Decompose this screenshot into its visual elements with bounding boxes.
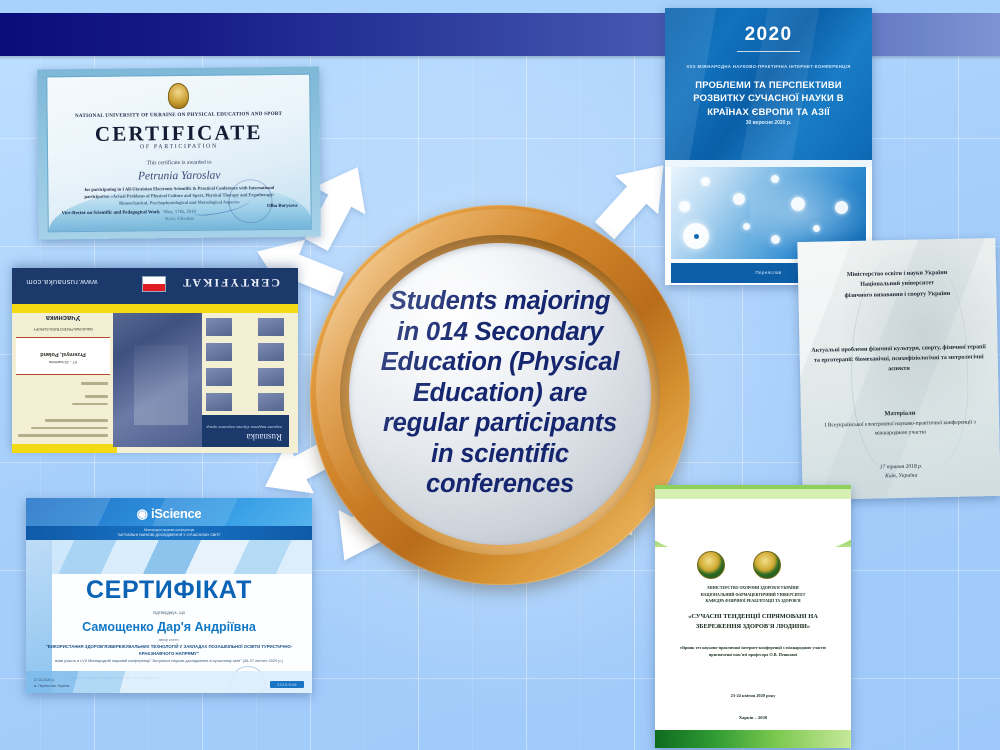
pharm-subtitle: збірник тез науково-практичної інтернет-… bbox=[671, 644, 835, 659]
conference-2020-rule bbox=[737, 51, 800, 52]
iscience-certificate-photo[interactable]: ◉ iScience Міжнародна наукова конференці… bbox=[26, 498, 312, 693]
conference-2020-title: ПРОБЛЕМИ ТА ПЕРСПЕКТИВИ РОЗВИТКУ СУЧАСНО… bbox=[673, 78, 864, 118]
rusnauka-date-range: 07 - 15 kwietnia bbox=[16, 360, 110, 374]
central-statement-circle: Students majoring in 014 Secondary Educa… bbox=[310, 205, 690, 585]
rusnauka-form-fields bbox=[18, 377, 108, 437]
iscience-number-badge: 2020/045 bbox=[270, 681, 304, 688]
iscience-conference-small: Міжнародна наукова конференція bbox=[26, 526, 312, 533]
rusnauka-form-line bbox=[81, 382, 108, 385]
rusnauka-url: www.rusnauka.com bbox=[26, 278, 97, 287]
ministry-title: Актуальні проблеми фізичної культури, сп… bbox=[809, 342, 988, 376]
university-seal-icon bbox=[753, 551, 781, 579]
ministry-seal-icon bbox=[697, 551, 725, 579]
poland-flag-icon bbox=[142, 276, 166, 292]
certificate-signer-title: Vice-Rector on Scientific and Pedagogica… bbox=[62, 209, 172, 217]
certificate-awarded-label: This certificate is awarded to bbox=[48, 159, 310, 168]
network-node-icon bbox=[813, 225, 820, 232]
pharm-city: Харків – 2020 bbox=[655, 715, 851, 720]
network-node-icon bbox=[771, 235, 780, 244]
atom-icon bbox=[683, 223, 709, 249]
rusnauka-form-line bbox=[72, 403, 108, 406]
conference-2020-year: 2020 bbox=[665, 24, 872, 46]
conference-2020-superline: XXX МІЖНАРОДНА НАУКОВО-ПРАКТИЧНА ІНТЕРНЕ… bbox=[675, 64, 862, 69]
iscience-recipient: Самощенко Дар'я Андріївна bbox=[26, 620, 312, 634]
iscience-confirms-label: підтверджує, що bbox=[26, 610, 312, 615]
rusnauka-footer-bar: CERTYFIKAT www.rusnauka.com bbox=[12, 268, 298, 304]
university-emblem-icon bbox=[168, 83, 189, 109]
network-node-icon bbox=[701, 177, 710, 186]
rusnauka-logo: Rusnauka bbox=[247, 432, 283, 442]
certificate-inner: NATIONAL UNIVERSITY OF UKRAINE ON PHYSIC… bbox=[46, 74, 312, 233]
conference-2020-divider bbox=[665, 160, 872, 167]
circle-face: Students majoring in 014 Secondary Educa… bbox=[349, 243, 651, 545]
rusnauka-form-line bbox=[31, 427, 108, 430]
certificate-signer-name: Olha Borysova bbox=[267, 204, 298, 209]
pharm-title: «СУЧАСНІ ТЕНДЕНЦІЇ СПРЯМОВАНІ НА ЗБЕРЕЖЕ… bbox=[667, 612, 839, 633]
rusnauka-city: Przemysl, Poland bbox=[16, 351, 110, 360]
ministry-materials: Матеріали I Всеукраїнської електронної н… bbox=[813, 406, 988, 440]
rusnauka-series-small: NAUKOWA PRZESTRZEN EUROPY bbox=[16, 326, 110, 331]
iscience-participation: взяв участь в LVІI Міжнародній науковій … bbox=[46, 658, 292, 664]
pharm-swoosh bbox=[655, 499, 851, 547]
iscience-article-title: "ВИКОРИСТАННЯ ЗДОРОВ'ЯЗБЕРЕЖУВАЛЬНИХ ТЕХ… bbox=[42, 644, 296, 657]
ministry-header: Міністерство освіти і науки України Наці… bbox=[808, 267, 987, 302]
rusnauka-form-line bbox=[85, 395, 108, 398]
iscience-ribbon: Міжнародна наукова конференція "АКТУАЛЬН… bbox=[26, 526, 312, 540]
network-node-icon bbox=[791, 197, 805, 211]
rusnauka-logo-sub: наукове видання збірник наукових праць bbox=[206, 424, 282, 430]
rusnauka-thumbnail bbox=[258, 318, 284, 336]
rusnauka-thumbnail bbox=[206, 318, 232, 336]
rusnauka-form-line bbox=[45, 419, 108, 422]
iscience-decorative-band bbox=[26, 540, 312, 574]
rusnauka-booklet-photo[interactable]: Rusnauka наукове видання збірник наукови… bbox=[12, 268, 298, 453]
pharm-proceedings-photo[interactable]: МІНІСТЕРСТВО ОХОРОНИ ЗДОРОВ'Я УКРАЇНИ НА… bbox=[655, 485, 851, 748]
rusnauka-yellow-top-bar bbox=[12, 444, 117, 453]
ministry-date-place: 17 травня 2018 р. Київ, Україна bbox=[812, 461, 990, 484]
iscience-brand: ◉ iScience bbox=[26, 506, 312, 522]
pharm-date: 23-24 квітня 2020 року bbox=[655, 693, 851, 698]
network-node-icon bbox=[771, 175, 779, 183]
iscience-globe-icon: ◉ bbox=[137, 506, 148, 521]
pharm-green-header bbox=[655, 485, 851, 547]
rusnauka-thumbnail bbox=[206, 368, 232, 386]
conference-2020-date: 30 вересня 2020 р. bbox=[665, 120, 872, 126]
iscience-title: СЕРТИФІКАТ bbox=[26, 576, 312, 605]
rusnauka-certificate-word: CERTYFIKAT bbox=[181, 275, 280, 290]
rusnauka-cover-photo bbox=[113, 313, 202, 447]
certificate-nuues-photo[interactable]: NATIONAL UNIVERSITY OF UKRAINE ON PHYSIC… bbox=[37, 67, 321, 240]
iscience-footer: 27.02.2020 р. м. Переяслав, Україна bbox=[34, 678, 69, 689]
iscience-author-label: автор статті: bbox=[26, 638, 312, 642]
network-node-icon bbox=[835, 201, 848, 214]
rusnauka-yellow-bar bbox=[12, 304, 298, 313]
network-node-icon bbox=[733, 193, 745, 205]
rusnauka-thumbnail bbox=[258, 343, 284, 361]
rusnauka-thumbnail bbox=[258, 368, 284, 386]
certificate-organization: NATIONAL UNIVERSITY OF UKRAINE ON PHYSIC… bbox=[56, 111, 302, 120]
pharm-organization: МІНІСТЕРСТВО ОХОРОНИ ЗДОРОВ'Я УКРАЇНИ НА… bbox=[669, 585, 837, 605]
rusnauka-thumbnail bbox=[206, 343, 232, 361]
pharm-green-footer bbox=[655, 730, 851, 748]
rusnauka-form-line bbox=[18, 434, 108, 437]
network-node-icon bbox=[679, 201, 690, 212]
central-statement-text: Students majoring in 014 Secondary Educa… bbox=[361, 286, 639, 502]
iscience-conference-name: "АКТУАЛЬНІ НАУКОВІ ДОСЛІДЖЕННЯ У СУЧАСНО… bbox=[26, 533, 312, 538]
network-node-icon bbox=[743, 223, 750, 230]
slide-canvas: Students majoring in 014 Secondary Educa… bbox=[0, 0, 1000, 750]
certificate-recipient: Petrunia Yaroslav bbox=[48, 169, 310, 184]
rusnauka-thumbnail bbox=[206, 393, 232, 411]
rusnauka-venue-box: 07 - 15 kwietnia Przemysl, Poland bbox=[16, 337, 110, 375]
rusnauka-thumbnail bbox=[258, 393, 284, 411]
ministry-proceedings-photo[interactable]: Міністерство освіти і науки України Наці… bbox=[797, 238, 1000, 500]
